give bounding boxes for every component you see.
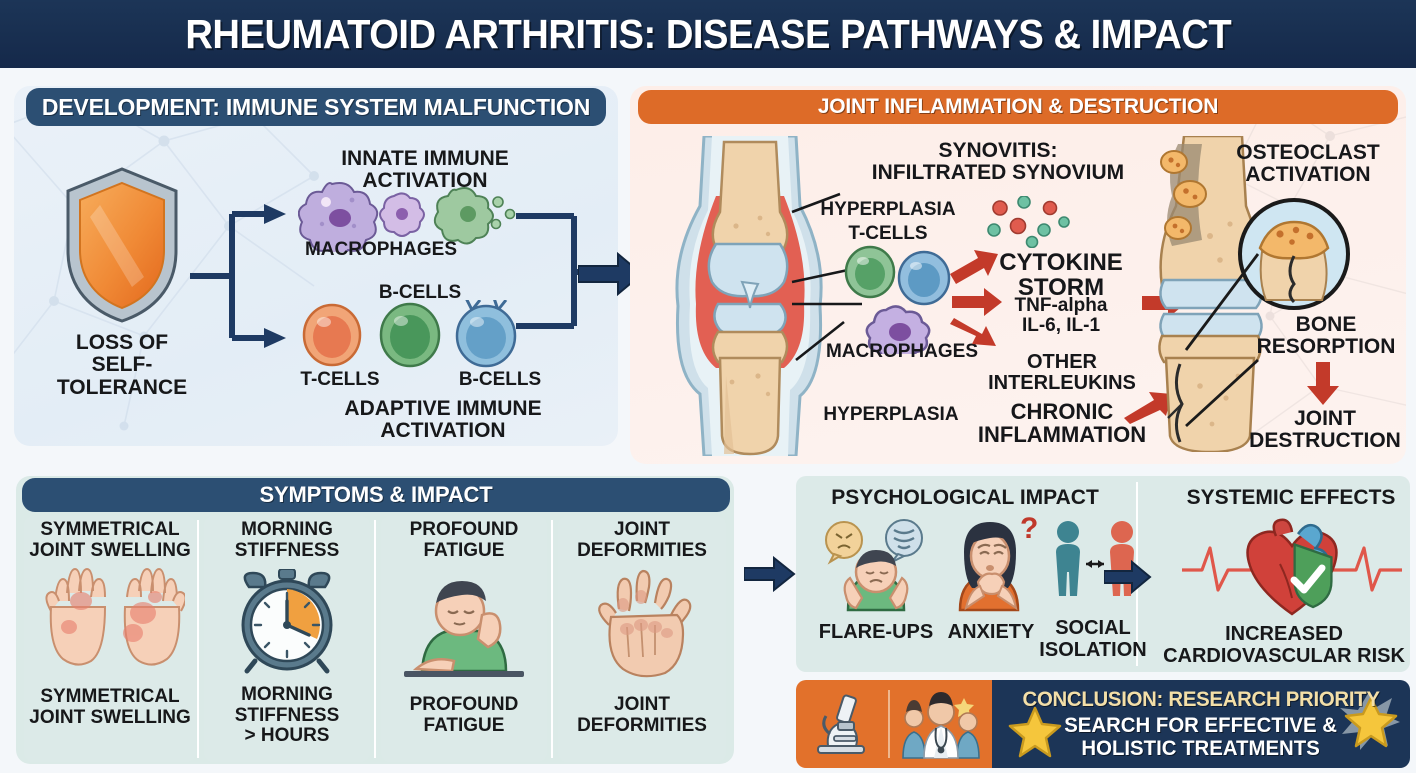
symptom-title: MORNING STIFFNESS [235,520,340,561]
cytokine-storm-title: CYTOKINE STORM [976,250,1146,301]
bcells-label: B-CELLS [440,370,560,390]
heart-ecg-shield-icon [1180,518,1404,622]
star-icon [1008,706,1062,758]
macrophages-label: MACROPHAGES [286,240,476,260]
tcells-label: T-CELLS [282,370,398,390]
conclusion-banner: CONCLUSION: RESEARCH PRIORITY SEARCH FOR… [796,680,1410,768]
symptom-title: SYMMETRICAL JOINT SWELLING [29,520,191,561]
symptom-column-stiffness: MORNING STIFFNESS MORNING STIFFNESS > HO… [204,516,370,762]
symptom-title: PROFOUND FATIGUE [410,520,519,561]
symptom-column-deformities: JOINT DEFORMITIES JOINT DEFORMITIES [558,516,726,762]
symptoms-divider [374,520,376,758]
symptoms-pill: SYMPTOMS & IMPACT [22,478,730,512]
research-team-icon [900,690,984,760]
systemic-caption: INCREASED CARDIOVASCULAR RISK [1158,624,1410,667]
joint-pill-label: JOINT INFLAMMATION & DESTRUCTION [818,95,1218,119]
anxious-person-icon: ? [944,512,1044,612]
systemic-title: SYSTEMIC EFFECTS [1180,486,1402,510]
bone-resorption-label: BONE RESORPTION [1236,314,1416,359]
symptoms-divider [197,520,199,758]
conclusion-icons [796,680,992,768]
psych-item-label: FLARE-UPS [806,622,946,644]
conclusion-line1: CONCLUSION: RESEARCH PRIORITY [1022,688,1379,712]
symptoms-divider [551,520,553,758]
conclusion-line2: SEARCH FOR EFFECTIVE & HOLISTIC TREATMEN… [1065,715,1338,760]
down-arrow-icon [1306,362,1340,406]
tcells-joint-label: T-CELLS [828,224,948,244]
svg-text:?: ? [1020,512,1038,545]
symptom-column-swelling: SYMMETRICAL JOINT SWELLING SYMMETRICAL J… [24,516,196,762]
hyperplasia-top-label: HYPERPLASIA [808,200,968,220]
cytokine-sub-label: TNF-alpha IL-6, IL-1 [976,296,1146,336]
adaptive-immune-title: ADAPTIVE IMMUNE ACTIVATION [316,398,570,443]
hyperplasia-bottom-label: HYPERPLASIA [808,405,974,425]
joint-destruction-label: JOINT DESTRUCTION [1232,408,1416,453]
synovitis-title: SYNOVITIS: INFILTRATED SYNOVIUM [868,140,1128,185]
shield-caption: LOSS OF SELF-TOLERANCE [30,332,214,399]
alarm-clock-icon [233,569,341,675]
page-title-bar: RHEUMATOID ARTHRITIS: DISEASE PATHWAYS &… [0,0,1416,68]
symptom-title: JOINT DEFORMITIES [577,520,707,561]
symptom-caption: JOINT DEFORMITIES [577,695,707,736]
cytokine-particles-icon [984,196,1076,248]
conclusion-text: CONCLUSION: RESEARCH PRIORITY SEARCH FOR… [992,680,1410,768]
symptom-caption: SYMMETRICAL JOINT SWELLING [29,687,191,728]
deformed-hand-icon [583,569,701,681]
symptom-caption: MORNING STIFFNESS > HOURS [235,685,340,747]
tired-person-icon [398,571,530,679]
adaptive-cells-icon [298,300,520,370]
psychological-title: PSYCHOLOGICAL IMPACT [812,486,1118,510]
flow-arrow-to-psych-icon [744,556,796,592]
icon-divider [888,690,890,758]
development-pill-label: DEVELOPMENT: IMMUNE SYSTEM MALFUNCTION [42,94,590,121]
osteoclast-title: OSTEOCLAST ACTIVATION [1208,142,1408,187]
shield-icon [60,165,184,325]
page-title: RHEUMATOID ARTHRITIS: DISEASE PATHWAYS &… [185,11,1231,58]
development-pill: DEVELOPMENT: IMMUNE SYSTEM MALFUNCTION [26,88,606,126]
symptom-column-fatigue: PROFOUND FATIGUE PROFOUND FATIGUE [381,516,547,762]
symptom-caption: PROFOUND FATIGUE [410,695,519,736]
joint-pill: JOINT INFLAMMATION & DESTRUCTION [638,90,1398,124]
swollen-hands-icon [35,567,185,679]
psych-item-label: SOCIAL ISOLATION [1030,618,1156,661]
symptoms-pill-label: SYMPTOMS & IMPACT [260,482,493,508]
flow-arrow-to-systemic-icon [1104,560,1152,594]
microscope-icon [810,692,872,756]
stressed-person-icon [820,516,932,612]
infographic-root: RHEUMATOID ARTHRITIS: DISEASE PATHWAYS &… [0,0,1416,773]
